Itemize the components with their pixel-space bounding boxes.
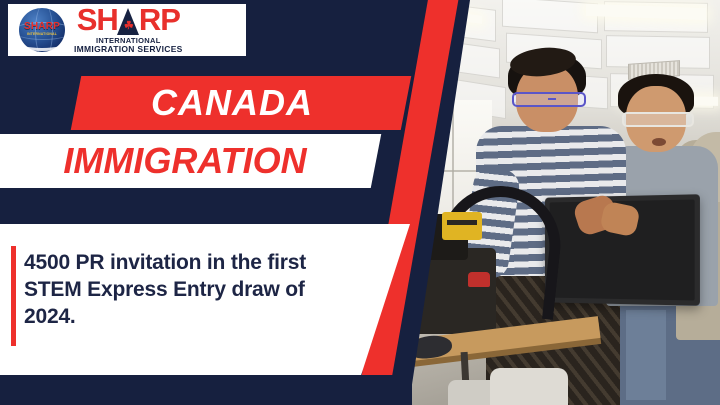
- brand-letter-a-maple-icon: ☘: [117, 8, 140, 35]
- brand-wordmark: SH ☘ RP INTERNATIONAL IMMIGRATION SERVIC…: [74, 6, 183, 54]
- title-line-2: IMMIGRATION: [0, 140, 376, 182]
- brand-name-head: SH: [77, 6, 118, 35]
- headline-text: 4500 PR invitation in the first STEM Exp…: [24, 250, 354, 331]
- safety-goggles-icon: [622, 112, 694, 127]
- emblem-wordmark: SHARP: [23, 21, 61, 32]
- safety-goggles-icon: [512, 92, 586, 107]
- red-accent-bar: [11, 246, 16, 346]
- globe-emblem-icon: SHARP INTERNATIONAL: [16, 7, 68, 53]
- maple-leaf-icon: ☘: [124, 21, 133, 32]
- brand-tagline-2: IMMIGRATION SERVICES: [74, 45, 183, 54]
- title-banner-immigration: IMMIGRATION: [0, 134, 381, 188]
- title-banner-canada: CANADA: [71, 76, 411, 130]
- promo-banner: CANADA IMMIGRATION 4500 PR invitation in…: [0, 0, 720, 405]
- brand-logo[interactable]: SHARP INTERNATIONAL SH ☘ RP INTERNATIONA…: [8, 4, 246, 56]
- brand-name-tail: RP: [139, 6, 180, 35]
- emblem-subtext: INTERNATIONAL: [21, 32, 63, 36]
- brand-tagline-1: INTERNATIONAL: [96, 37, 161, 45]
- title-line-1: CANADA: [76, 82, 406, 124]
- bottom-navy-strip: [0, 375, 412, 405]
